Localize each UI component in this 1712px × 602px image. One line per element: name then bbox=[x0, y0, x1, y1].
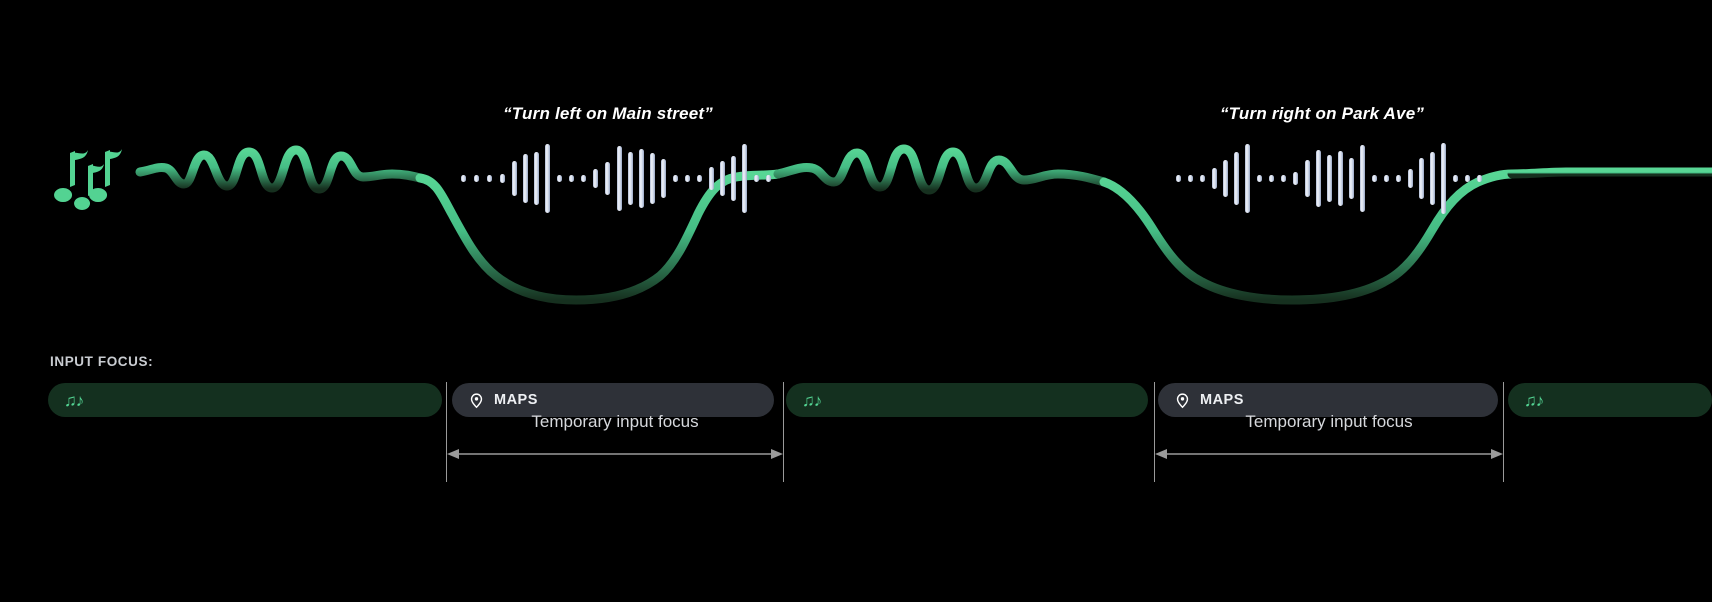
speech-quote-2: “Turn right on Park Ave” bbox=[1220, 104, 1424, 124]
input-focus-label: INPUT FOCUS: bbox=[50, 354, 153, 369]
bracket-tick-right bbox=[1503, 382, 1504, 482]
bracket-double-arrow bbox=[1154, 446, 1504, 462]
music-notes-icon bbox=[54, 149, 122, 210]
speech-quote-1: “Turn left on Main street” bbox=[503, 104, 713, 124]
bracket-tick-left bbox=[1154, 382, 1155, 482]
music-notes-icon: ♫♪ bbox=[1524, 392, 1543, 409]
audio-focus-timeline-diagram: “Turn left on Main street” “Turn right o… bbox=[0, 0, 1712, 602]
speech-waveform-bars-1 bbox=[461, 144, 771, 213]
media-focus-pill-1[interactable]: ♫♪ bbox=[48, 383, 442, 417]
music-notes-icon: ♫♪ bbox=[64, 392, 83, 409]
temporary-focus-bracket-1: Temporary input focus bbox=[446, 382, 784, 482]
media-focus-pill-2[interactable]: ♫♪ bbox=[786, 383, 1148, 417]
music-notes-icon: ♫♪ bbox=[802, 392, 821, 409]
media-audio-waveline bbox=[140, 149, 1712, 300]
temporary-focus-caption: Temporary input focus bbox=[1154, 412, 1504, 432]
bracket-tick-right bbox=[783, 382, 784, 482]
bracket-tick-left bbox=[446, 382, 447, 482]
media-focus-pill-3[interactable]: ♫♪ bbox=[1508, 383, 1712, 417]
temporary-focus-caption: Temporary input focus bbox=[446, 412, 784, 432]
temporary-focus-bracket-2: Temporary input focus bbox=[1154, 382, 1504, 482]
bracket-double-arrow bbox=[446, 446, 784, 462]
timeline-waveform: “Turn left on Main street” “Turn right o… bbox=[0, 0, 1712, 330]
speech-waveform-bars-2 bbox=[1176, 143, 1482, 214]
